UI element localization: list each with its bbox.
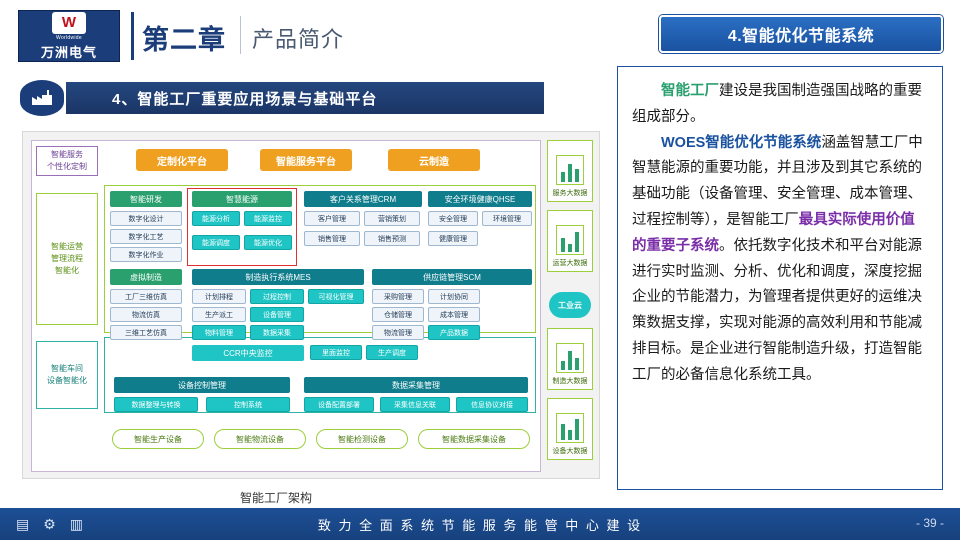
logo-english-name: Worldwide <box>56 35 82 41</box>
bar-chart-icon <box>556 225 584 255</box>
module-cell[interactable]: 能源分析 <box>192 211 240 226</box>
module-cell[interactable]: 生产派工 <box>192 307 246 322</box>
module-cell[interactable]: 计划协同 <box>428 289 480 304</box>
description-body: 智能工厂建设是我国制造强国战略的重要组成部分。 WOES智能优化节能系统涵盖智慧… <box>618 67 942 389</box>
chapter-title: 第二章 <box>142 18 226 57</box>
module-cell[interactable]: 可视化管理 <box>308 289 364 304</box>
platform-button-smart-service[interactable]: 智能服务平台 <box>260 149 352 171</box>
highlight-smart-factory: 智能工厂 <box>661 83 719 99</box>
module-cell[interactable]: 三维工艺仿真 <box>110 325 182 340</box>
bigdata-label: 服务大数据 <box>553 188 588 198</box>
module-cell[interactable]: 能源调度 <box>192 235 240 250</box>
bigdata-column: 服务大数据 运营大数据 工业云 制造大数据 设备大数据 <box>547 140 593 472</box>
platform-button-cloud-manufacturing[interactable]: 云制造 <box>388 149 480 171</box>
module-cell[interactable]: 设备配置部署 <box>304 397 374 412</box>
module-cell[interactable]: 成本管理 <box>428 307 480 322</box>
description-panel: 智能工厂建设是我国制造强国战略的重要组成部分。 WOES智能优化节能系统涵盖智慧… <box>617 66 943 490</box>
module-head-smart-energy: 智慧能源 <box>192 191 292 207</box>
logo-chinese-name: 万洲电气 <box>41 42 97 61</box>
module-cell[interactable]: 工厂三维仿真 <box>110 289 182 304</box>
module-cell[interactable]: 物料管理 <box>192 325 246 340</box>
bigdata-label: 运营大数据 <box>553 258 588 268</box>
section-title-label: 4、智能工厂重要应用场景与基础平台 <box>112 88 377 109</box>
module-cell[interactable]: 设备管理 <box>250 307 304 322</box>
layer-label-line1: 智能服务 <box>47 149 87 161</box>
layer-label-line1: 智能车间 <box>47 363 87 375</box>
module-cell[interactable]: 能源监控 <box>244 211 292 226</box>
module-cell[interactable]: 信息协议对接 <box>456 397 528 412</box>
module-cell[interactable]: 数字化作业 <box>110 247 182 262</box>
module-head-data-collection: 数据采集管理 <box>304 377 528 393</box>
layer-label-smart-workshop: 智能车间 设备智能化 <box>36 341 98 409</box>
module-head-crm: 客户关系管理CRM <box>304 191 422 207</box>
bigdata-box-service: 服务大数据 <box>547 140 593 202</box>
module-cell[interactable]: 数据整理与转换 <box>114 397 198 412</box>
equipment-pill-inspection[interactable]: 智能检测设备 <box>316 429 408 449</box>
equipment-pill-production[interactable]: 智能生产设备 <box>112 429 204 449</box>
diagram-canvas: 智能服务 个性化定制 智能运营 管理流程 智能化 智能车间 设备智能化 定制化平… <box>31 140 541 472</box>
module-cell[interactable]: 数据采集 <box>250 325 304 340</box>
module-cell[interactable]: 产品数据 <box>428 325 480 340</box>
layer-label-smart-service: 智能服务 个性化定制 <box>36 146 98 176</box>
description-paragraph-2: WOES智能优化节能系统涵盖智慧工厂中智慧能源的重要功能，并且涉及到其它系统的基… <box>632 131 928 389</box>
layer-label-line1: 智能运营 <box>51 241 83 253</box>
logo-emblem: W <box>52 12 86 34</box>
layer-label-line2: 个性化定制 <box>47 161 87 173</box>
equipment-pill-logistics[interactable]: 智能物流设备 <box>214 429 306 449</box>
module-cell[interactable]: 物流管理 <box>372 325 424 340</box>
module-cell[interactable]: 过程控制 <box>250 289 304 304</box>
text-run: 。依托数字化技术和平台对能源进行实时监测、分析、优化和调度，深度挖掘企业的节能潜… <box>632 238 922 383</box>
description-paragraph-1: 智能工厂建设是我国制造强国战略的重要组成部分。 <box>632 79 928 131</box>
module-cell[interactable]: 营销策划 <box>364 211 420 226</box>
bigdata-box-manufacturing: 制造大数据 <box>547 328 593 390</box>
section-title: 4、智能工厂重要应用场景与基础平台 <box>66 82 544 114</box>
industrial-cloud-badge: 工业云 <box>549 292 591 318</box>
module-cell[interactable]: 里面监控 <box>310 345 362 360</box>
module-cell[interactable]: 生产调度 <box>366 345 418 360</box>
module-head-qhse: 安全环境健康QHSE <box>428 191 532 207</box>
module-cell[interactable]: 数字化设计 <box>110 211 182 226</box>
slide-footer: ▤ ⚙ ▥ 致 力 全 面 系 统 节 能 服 务 能 管 中 心 建 设 - … <box>0 508 960 540</box>
smart-factory-architecture-diagram: 智能服务 个性化定制 智能运营 管理流程 智能化 智能车间 设备智能化 定制化平… <box>22 131 600 479</box>
factory-icon <box>20 80 64 116</box>
module-cell[interactable]: 采购管理 <box>372 289 424 304</box>
bigdata-box-operation: 运营大数据 <box>547 210 593 272</box>
chapter-subtitle: 产品简介 <box>252 22 344 54</box>
layer-label-line3: 智能化 <box>51 265 83 277</box>
module-cell[interactable]: 健康管理 <box>428 231 478 246</box>
chapter-divider <box>240 16 241 54</box>
module-cell[interactable]: 采集信息关联 <box>380 397 450 412</box>
company-logo: W Worldwide 万洲电气 <box>18 10 120 62</box>
bar-chart-icon <box>556 413 584 443</box>
module-cell[interactable]: 销售预测 <box>364 231 420 246</box>
module-cell[interactable]: 安全管理 <box>428 211 478 226</box>
bigdata-label: 制造大数据 <box>553 376 588 386</box>
logo-emblem-letter: W <box>62 15 76 30</box>
bigdata-label: 设备大数据 <box>553 446 588 456</box>
module-cell[interactable]: 计划排程 <box>192 289 246 304</box>
slide-topic-label: 4.智能优化节能系统 <box>728 22 874 46</box>
diagram-caption: 智能工厂架构 <box>240 489 312 506</box>
module-head-rnd: 智能研发 <box>110 191 182 207</box>
module-head-ccr: CCR中央监控 <box>192 345 304 361</box>
module-head-virtual-manufacturing: 虚拟制造 <box>110 269 182 285</box>
module-head-device-control: 设备控制管理 <box>114 377 290 393</box>
module-cell[interactable]: 销售管理 <box>304 231 360 246</box>
module-cell[interactable]: 客户管理 <box>304 211 360 226</box>
layer-label-line2: 设备智能化 <box>47 375 87 387</box>
module-cell[interactable]: 仓储管理 <box>372 307 424 322</box>
equipment-pill-data-acquisition[interactable]: 智能数据采集设备 <box>418 429 530 449</box>
module-cell[interactable]: 环境管理 <box>482 211 532 226</box>
bar-chart-icon <box>556 155 584 185</box>
footer-slogan: 致 力 全 面 系 统 节 能 服 务 能 管 中 心 建 设 <box>0 508 960 540</box>
module-head-mes: 制造执行系统MES <box>192 269 364 285</box>
module-cell[interactable]: 数字化工艺 <box>110 229 182 244</box>
platform-button-custom[interactable]: 定制化平台 <box>136 149 228 171</box>
layer-label-line2: 管理流程 <box>51 253 83 265</box>
highlight-woes-system: WOES智能优化节能系统 <box>661 135 821 151</box>
module-head-scm: 供应链管理SCM <box>372 269 532 285</box>
page-number: - 39 - <box>916 516 944 530</box>
bar-chart-icon <box>556 343 584 373</box>
module-cell[interactable]: 能源优化 <box>244 235 292 250</box>
layer-label-smart-operation: 智能运营 管理流程 智能化 <box>36 193 98 325</box>
chapter-accent-bar <box>131 12 134 60</box>
slide-topic-badge: 4.智能优化节能系统 <box>659 15 943 53</box>
bigdata-box-equipment: 设备大数据 <box>547 398 593 460</box>
module-cell[interactable]: 控制系统 <box>206 397 290 412</box>
module-cell[interactable]: 物流仿真 <box>110 307 182 322</box>
